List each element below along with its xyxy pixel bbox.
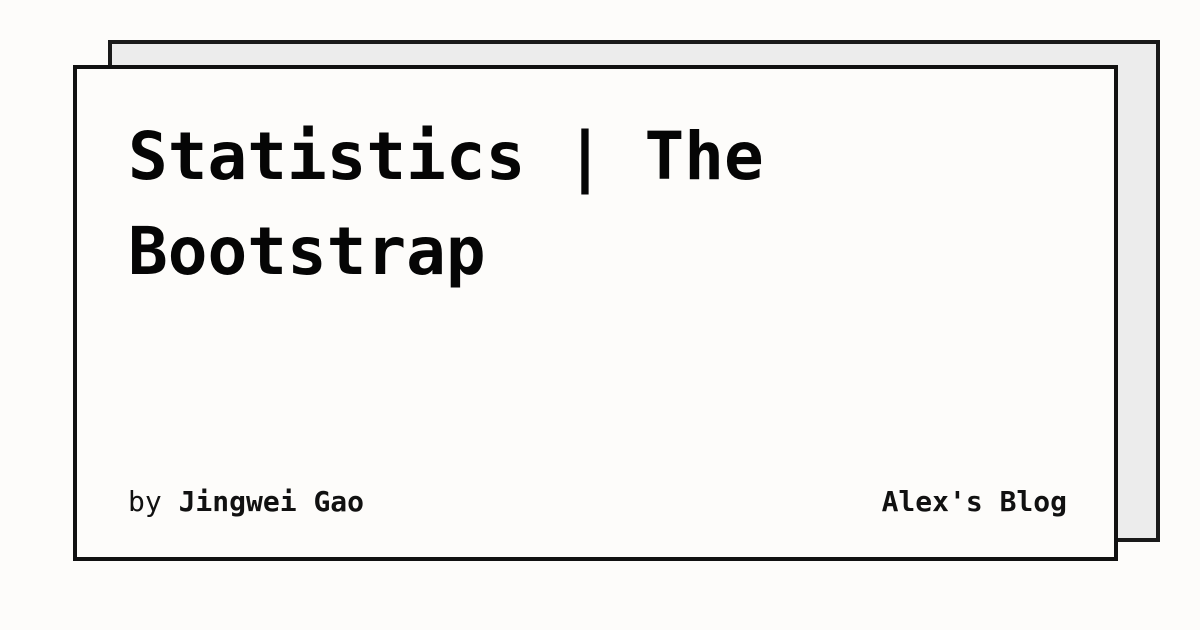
card-footer: by Jingwei Gao Alex's Blog — [128, 485, 1067, 519]
page-title: Statistics | The Bootstrap — [128, 109, 888, 299]
byline: by Jingwei Gao — [128, 485, 364, 519]
byline-author: Jingwei Gao — [179, 485, 364, 518]
og-image-canvas: Statistics | The Bootstrap by Jingwei Ga… — [0, 0, 1200, 630]
byline-prefix: by — [128, 485, 179, 518]
card-front-panel: Statistics | The Bootstrap by Jingwei Ga… — [73, 65, 1118, 561]
site-name: Alex's Blog — [882, 485, 1067, 519]
